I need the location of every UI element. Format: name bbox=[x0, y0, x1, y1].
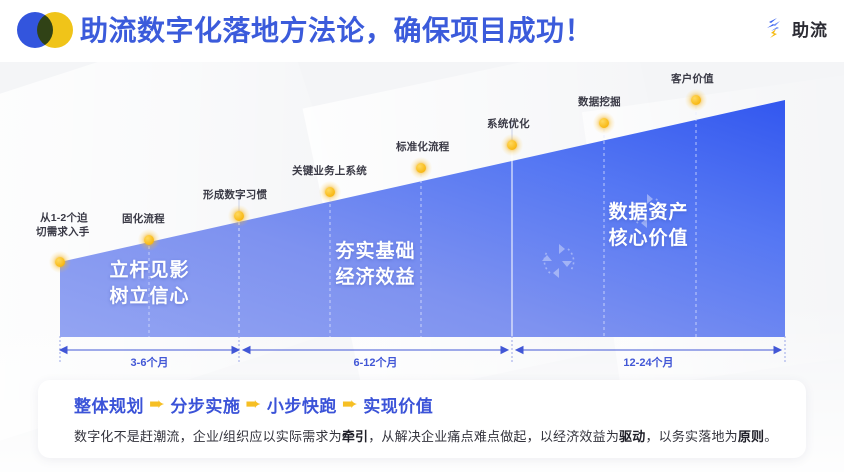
two-overlapping-circles-logo-icon bbox=[17, 12, 73, 48]
milestone-label-7: 数据挖掘 bbox=[578, 96, 621, 109]
stage-title-2: 夯实基础 经济效益 bbox=[239, 239, 512, 291]
stage-title-3-line2: 核心价值 bbox=[512, 226, 785, 252]
summary-emphasis: 原则 bbox=[738, 429, 764, 444]
milestone-node-8[interactable] bbox=[685, 89, 707, 111]
brand-name: 助流 bbox=[792, 16, 828, 41]
milestone-node-5[interactable] bbox=[410, 157, 432, 179]
summary-description: 数字化不是赶潮流，企业/组织应以实际需求为牵引，从解决企业痛点难点做起，以经济效… bbox=[74, 426, 777, 445]
summary-step-4: 实现价值 bbox=[363, 392, 433, 417]
timeline-duration-1: 3-6个月 bbox=[60, 354, 239, 370]
summary-steps: 整体规划 ➨ 分步实施 ➨ 小步快跑 ➨ 实现价值 bbox=[74, 392, 433, 417]
stage-title-2-line1: 夯实基础 bbox=[239, 239, 512, 265]
summary-step-3: 小步快跑 bbox=[267, 392, 337, 417]
summary-text: ，以务实落地为 bbox=[645, 429, 737, 444]
milestone-node-4[interactable] bbox=[319, 181, 341, 203]
brand-logo: 助流 bbox=[764, 16, 828, 41]
arrow-right-icon: ➨ bbox=[342, 395, 358, 414]
methodology-ramp-chart: 从1-2个迫 切需求入手 固化流程 形成数字习惯 关键业务上系统 标准化流程 系… bbox=[0, 62, 844, 362]
stage-title-1: 立杆见影 树立信心 bbox=[60, 258, 239, 310]
milestone-label-8: 客户价值 bbox=[671, 73, 714, 86]
milestone-node-3[interactable] bbox=[228, 205, 250, 227]
summary-step-1: 整体规划 bbox=[74, 392, 144, 417]
summary-emphasis: 牵引 bbox=[342, 429, 368, 444]
lightning-bolt-icon bbox=[764, 17, 788, 41]
summary-step-2: 分步实施 bbox=[170, 392, 240, 417]
milestone-node-7[interactable] bbox=[593, 112, 615, 134]
milestone-label-2: 固化流程 bbox=[122, 213, 165, 226]
summary-text: 数字化不是赶潮流，企业/组织应以实际需求为 bbox=[74, 429, 342, 444]
milestone-node-2[interactable] bbox=[138, 229, 160, 251]
milestone-label-3: 形成数字习惯 bbox=[203, 189, 267, 202]
stage-title-3-line1: 数据资产 bbox=[512, 200, 785, 226]
slide-root: 助流数字化落地方法论，确保项目成功！ 助流 bbox=[0, 0, 844, 472]
stage-title-1-line2: 树立信心 bbox=[60, 284, 239, 310]
stage-title-2-line2: 经济效益 bbox=[239, 265, 512, 291]
milestone-label-6: 系统优化 bbox=[487, 118, 530, 131]
milestone-node-6[interactable] bbox=[501, 134, 523, 156]
arrow-right-icon: ➨ bbox=[149, 395, 165, 414]
stage-title-3: 数据资产 核心价值 bbox=[512, 200, 785, 252]
slide-header: 助流数字化落地方法论，确保项目成功！ 助流 bbox=[0, 0, 844, 62]
milestone-label-4: 关键业务上系统 bbox=[292, 165, 367, 178]
summary-emphasis: 驱动 bbox=[619, 429, 645, 444]
page-title: 助流数字化落地方法论，确保项目成功！ bbox=[80, 9, 593, 53]
timeline-axis: 3-6个月 6-12个月 12-24个月 bbox=[0, 336, 844, 376]
timeline-duration-3: 12-24个月 bbox=[512, 354, 785, 370]
summary-card: 整体规划 ➨ 分步实施 ➨ 小步快跑 ➨ 实现价值 数字化不是赶潮流，企业/组织… bbox=[38, 380, 806, 458]
timeline-duration-2: 6-12个月 bbox=[239, 354, 512, 370]
milestone-label-5: 标准化流程 bbox=[396, 141, 450, 154]
stage-title-1-line1: 立杆见影 bbox=[60, 258, 239, 284]
milestone-label-1-line2: 切需求入手 bbox=[36, 226, 90, 239]
summary-text: 。 bbox=[764, 429, 777, 444]
arrow-right-icon: ➨ bbox=[245, 395, 261, 414]
milestone-label-1-line1: 从1-2个迫 bbox=[40, 212, 88, 225]
summary-text: ，从解决企业痛点难点做起，以经济效益为 bbox=[368, 429, 619, 444]
